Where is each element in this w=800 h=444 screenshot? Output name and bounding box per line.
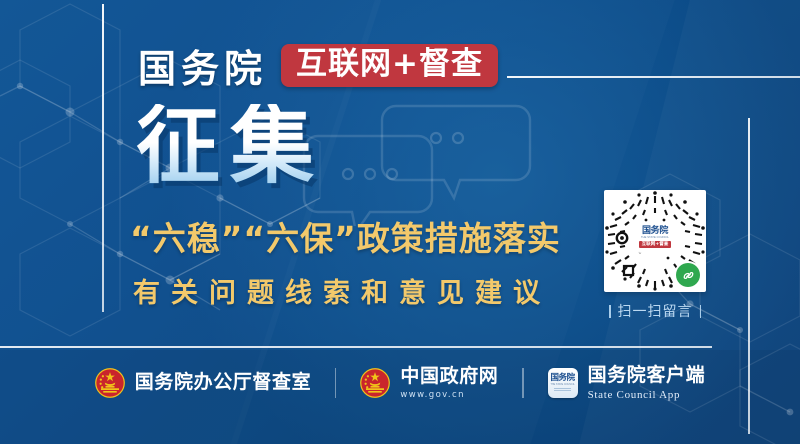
chat-bubble-watermark xyxy=(296,96,566,226)
footer: 国务院办公厅督查室 中国政府网 www.gov.cn xyxy=(0,352,800,414)
qr-center-subtitle: THE STATE COUNCIL xyxy=(641,237,669,240)
qr-center-tag: 互联网+督查 xyxy=(639,241,672,248)
qr-caption: 扫一扫留言 xyxy=(604,301,706,321)
page-title: 征集 xyxy=(136,104,324,188)
program-badge-label: 互联网+督查 xyxy=(296,49,483,80)
app-icon-label: 国务院 xyxy=(550,374,574,383)
footer-item-sublabel: www.gov.cn xyxy=(400,390,498,400)
footer-item-state-council-office: 国务院办公厅督查室 xyxy=(95,368,311,398)
footer-item-label: 国务院客户端 xyxy=(588,365,706,387)
qr-center-title: 国务院 xyxy=(642,227,668,236)
qr-block: 国务院 THE STATE COUNCIL 互联网+督查 扫一扫留言 xyxy=(604,190,706,321)
wechat-miniprogram-icon xyxy=(676,263,700,287)
divider-vertical-left xyxy=(102,4,104,312)
footer-divider-1 xyxy=(335,368,336,398)
qr-caption-text: 扫一扫留言 xyxy=(618,301,693,321)
divider-horizontal-footer xyxy=(0,346,712,348)
poster-canvas: 国务院 互联网+督查 征集 “六稳”“六保”政策措施落实 有关问题线索和意见建议 xyxy=(0,0,800,444)
national-emblem-icon xyxy=(95,368,125,398)
caption-bar-right xyxy=(700,305,702,318)
miniprogram-qr-code[interactable]: 国务院 THE STATE COUNCIL 互联网+督查 xyxy=(604,190,706,292)
app-icon-sublabel: THE STATE COUNCIL xyxy=(550,383,574,386)
caption-bar-left xyxy=(609,305,611,318)
subtitle-line-1: “六稳”“六保”政策措施落实 xyxy=(130,222,561,255)
state-council-app-icon: 国务院 THE STATE COUNCIL xyxy=(548,368,578,398)
divider-horizontal-top-right xyxy=(507,76,800,78)
program-badge: 互联网+督查 xyxy=(281,44,498,87)
footer-item-gov-cn: 中国政府网 www.gov.cn xyxy=(360,366,498,400)
footer-item-label: 国务院办公厅督查室 xyxy=(135,372,311,394)
footer-item-label: 中国政府网 xyxy=(400,366,498,388)
footer-item-state-council-app: 国务院 THE STATE COUNCIL 国务院客户端 State Counc… xyxy=(548,365,706,401)
footer-item-sublabel: State Council App xyxy=(588,389,706,401)
app-icon-lines xyxy=(554,388,571,392)
subtitle-line-2: 有关问题线索和意见建议 xyxy=(133,280,551,307)
qr-center-logo: 国务院 THE STATE COUNCIL 互联网+督查 xyxy=(637,223,673,252)
footer-divider-2 xyxy=(522,368,523,398)
organization-title: 国务院 xyxy=(138,38,267,93)
national-emblem-icon xyxy=(360,368,390,398)
header: 国务院 互联网+督查 xyxy=(138,38,498,93)
